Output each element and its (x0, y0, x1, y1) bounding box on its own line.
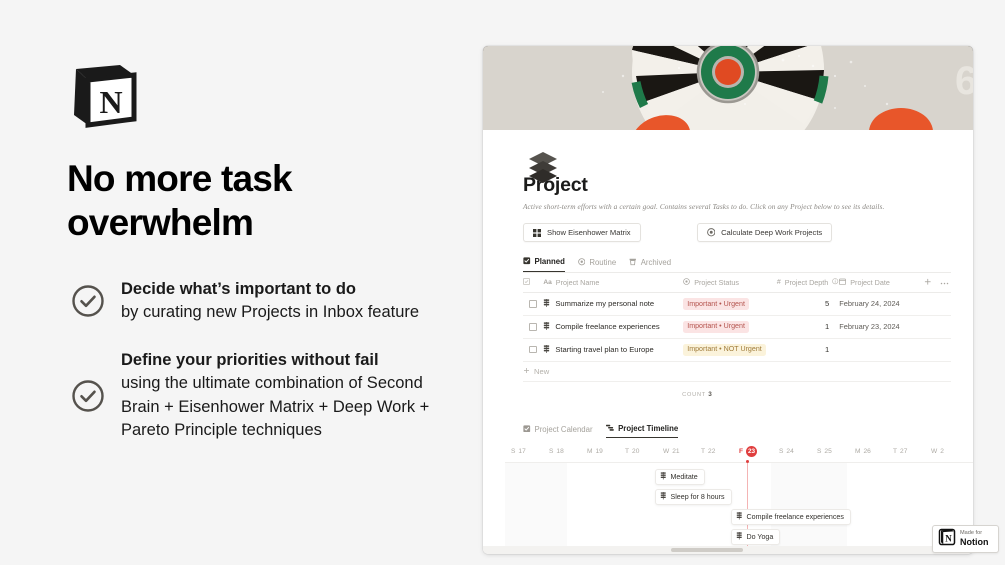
timeline-day[interactable]: M19 (587, 448, 603, 455)
project-name: Starting travel plan to Europe (555, 345, 653, 354)
calculate-deep-work-projects-button[interactable]: Calculate Deep Work Projects (697, 223, 833, 242)
row-count[interactable]: COUNT 3 (483, 391, 951, 398)
row-status-cell[interactable]: Important • NOT Urgent (683, 338, 777, 361)
grid-icon (533, 229, 541, 237)
bullet-title: Decide what’s important to do (121, 278, 419, 301)
page-icon (543, 322, 550, 332)
tab-planned[interactable]: Planned (523, 257, 565, 272)
timeline-day[interactable]: S25 (817, 448, 832, 455)
button-label: Show Eisenhower Matrix (547, 228, 631, 237)
gear-icon (707, 228, 716, 237)
status-icon (683, 278, 690, 287)
today-marker-dot (746, 460, 749, 463)
timeline-item[interactable]: Sleep for 8 hours (655, 489, 732, 505)
layers-stack-icon (526, 149, 560, 183)
row-date-cell[interactable]: February 23, 2024 (839, 315, 916, 338)
row-date-cell[interactable]: February 24, 2024 (839, 293, 916, 316)
timeline-item[interactable]: Meditate (655, 469, 705, 485)
column-header-project-date[interactable]: Project Date (839, 272, 916, 293)
bullet-text: Define your priorities without fail usin… (121, 349, 462, 443)
weekend-band (529, 463, 567, 554)
tab-label: Routine (589, 258, 616, 267)
column-header-select[interactable] (523, 272, 543, 293)
timeline-day[interactable]: W2 (931, 448, 944, 455)
column-header-project-name[interactable]: Aa Project Name (543, 272, 683, 293)
project-depth: 1 (825, 322, 829, 331)
column-label: Project Name (556, 278, 600, 287)
row-depth-cell[interactable]: 5 (777, 293, 839, 316)
slide-root: N No more task overwhelm Decide what’s i… (0, 0, 1005, 565)
column-header-project-depth[interactable]: # Project Depth (777, 272, 839, 293)
bullet-title: Define your priorities without fail (121, 349, 462, 372)
column-header-project-status[interactable]: Project Status (683, 272, 777, 293)
project-timeline-chart[interactable]: S17 S18 M19 T20 W21 T22 F23 S24 S25 M26 … (505, 448, 973, 554)
project-depth: 5 (825, 299, 829, 308)
timeline-day[interactable]: T20 (625, 448, 639, 455)
timeline-item-label: Compile freelance experiences (747, 513, 844, 521)
table-header-row: Aa Project Name Project Status (523, 272, 951, 293)
row-depth-cell[interactable]: 1 (777, 315, 839, 338)
badge-made-for: Made for (960, 531, 989, 537)
tab-label: Archived (641, 258, 671, 267)
database-view-tabs: Planned Routine Archived (523, 257, 951, 272)
plus-icon (523, 367, 530, 376)
svg-text:6: 6 (955, 59, 973, 103)
timeline-day[interactable]: T27 (893, 448, 907, 455)
clock-icon (578, 258, 586, 268)
weekend-band (505, 463, 529, 554)
text-aa-icon: Aa (543, 279, 551, 286)
checkbox-icon (523, 278, 530, 287)
page-title: Project (523, 174, 951, 197)
count-value: 3 (708, 391, 712, 398)
project-date: February 24, 2024 (839, 299, 899, 308)
timeline-item-label: Meditate (671, 473, 698, 481)
checkbox-icon (523, 425, 531, 435)
count-label: COUNT (682, 392, 706, 398)
page-subtitle: Active short-term efforts with a certain… (523, 202, 951, 211)
checkbox-icon (523, 257, 531, 267)
tab-routine[interactable]: Routine (578, 258, 616, 272)
number-hash-icon: # (777, 279, 781, 286)
row-checkbox[interactable] (529, 300, 537, 308)
page-icon (660, 492, 667, 502)
project-date: February 23, 2024 (839, 322, 899, 331)
table-row[interactable]: Starting travel plan to Europe Important… (523, 338, 951, 361)
row-select-cell[interactable] (523, 315, 543, 338)
project-name: Summarize my personal note (555, 299, 654, 308)
tab-label: Project Timeline (618, 424, 678, 433)
bullet-list: Decide what’s important to do by curatin… (67, 278, 462, 467)
column-label: Project Depth (785, 278, 829, 287)
list-item: Decide what’s important to do by curatin… (67, 278, 462, 325)
table-row[interactable]: Compile freelance experiences Important … (523, 315, 951, 338)
row-name-cell[interactable]: Starting travel plan to Europe (543, 338, 683, 361)
scrollbar-thumb[interactable] (671, 548, 743, 552)
row-actions-cell (916, 293, 951, 316)
page-icon (660, 472, 667, 482)
tab-project-calendar[interactable]: Project Calendar (523, 425, 593, 439)
svg-text:N: N (945, 533, 952, 543)
new-row-label: New (534, 367, 549, 376)
page-icon (543, 299, 550, 309)
bullet-body: by curating new Projects in Inbox featur… (121, 303, 419, 321)
tab-label: Project Calendar (535, 425, 593, 434)
timeline-item-label: Sleep for 8 hours (671, 493, 725, 501)
check-circle-icon (67, 379, 109, 413)
timeline-day[interactable]: S18 (549, 448, 564, 455)
timeline-day[interactable]: S17 (511, 448, 526, 455)
timeline-day[interactable]: W21 (663, 448, 680, 455)
page-icon (736, 532, 743, 542)
more-dots-icon[interactable] (940, 278, 949, 287)
timeline-day[interactable]: S24 (779, 448, 794, 455)
horizontal-scrollbar[interactable] (483, 546, 973, 554)
show-eisenhower-matrix-button[interactable]: Show Eisenhower Matrix (523, 223, 641, 242)
page-icon (543, 345, 550, 355)
page-cover-image: 6 (483, 46, 973, 130)
timeline-day[interactable]: M26 (855, 448, 871, 455)
row-checkbox[interactable] (529, 323, 537, 331)
badge-text: Made for Notion (960, 531, 989, 547)
action-button-row: Show Eisenhower Matrix Calculate Deep Wo… (523, 223, 951, 242)
timeline-icon (606, 424, 615, 434)
new-row[interactable]: New (523, 361, 951, 381)
left-content-panel: N No more task overwhelm Decide what’s i… (0, 0, 472, 565)
row-date-cell[interactable] (839, 338, 916, 361)
timeline-item[interactable]: Do Yoga (731, 529, 780, 545)
timeline-item-label: Do Yoga (747, 533, 774, 541)
column-label: Project Status (694, 278, 739, 287)
notion-logo-icon: N (938, 528, 956, 551)
check-circle-icon (67, 284, 109, 318)
button-label: Calculate Deep Work Projects (721, 228, 822, 237)
row-checkbox[interactable] (529, 346, 537, 354)
status-badge: Important • NOT Urgent (683, 344, 766, 356)
info-icon (832, 278, 838, 287)
list-item: Define your priorities without fail usin… (67, 349, 462, 443)
row-actions-cell (916, 338, 951, 361)
notion-app-screenshot: 6 Project Active sh (483, 46, 973, 554)
project-name: Compile freelance experiences (555, 322, 659, 331)
calendar-icon (839, 278, 846, 287)
timeline-item[interactable]: Compile freelance experiences (731, 509, 851, 525)
row-depth-cell[interactable]: 1 (777, 338, 839, 361)
projects-table: Aa Project Name Project Status (523, 272, 951, 382)
timeline-date-ruler: S17 S18 M19 T20 W21 T22 F23 S24 S25 M26 … (505, 448, 973, 462)
timeline-day-today[interactable]: F23 (739, 446, 757, 457)
column-header-actions[interactable] (916, 272, 951, 293)
row-name-cell[interactable]: Summarize my personal note (543, 293, 683, 316)
timeline-day[interactable]: T22 (701, 448, 715, 455)
tab-label: Planned (535, 257, 565, 266)
notion-logo-icon: N (68, 63, 140, 129)
row-name-cell[interactable]: Compile freelance experiences (543, 315, 683, 338)
status-badge: Important • Urgent (683, 321, 749, 333)
plus-icon[interactable] (924, 278, 932, 288)
bullet-text: Decide what’s important to do by curatin… (121, 278, 419, 325)
table-row[interactable]: Summarize my personal note Important • U… (523, 293, 951, 316)
archive-icon (629, 258, 637, 268)
tab-archived[interactable]: Archived (629, 258, 671, 272)
project-depth: 1 (825, 345, 829, 354)
notion-document-body: Project Active short-term efforts with a… (483, 130, 973, 554)
made-for-notion-badge: N Made for Notion (932, 525, 999, 553)
svg-text:N: N (99, 84, 122, 120)
timeline-view-tabs: Project Calendar Project Timeline (523, 424, 951, 439)
row-select-cell[interactable] (523, 293, 543, 316)
badge-notion: Notion (960, 538, 989, 547)
tab-project-timeline[interactable]: Project Timeline (606, 424, 679, 439)
status-badge: Important • Urgent (683, 298, 749, 310)
bullet-body: using the ultimate combination of Second… (121, 374, 429, 439)
column-label: Project Date (850, 278, 890, 287)
timeline-grid[interactable]: Meditate Sleep for 8 hours Compile freel… (505, 462, 973, 554)
page-icon (736, 512, 743, 522)
row-status-cell[interactable]: Important • Urgent (683, 293, 777, 316)
new-row-cell[interactable]: New (523, 361, 951, 381)
row-actions-cell (916, 315, 951, 338)
headline: No more task overwhelm (67, 157, 457, 244)
row-select-cell[interactable] (523, 338, 543, 361)
row-status-cell[interactable]: Important • Urgent (683, 315, 777, 338)
